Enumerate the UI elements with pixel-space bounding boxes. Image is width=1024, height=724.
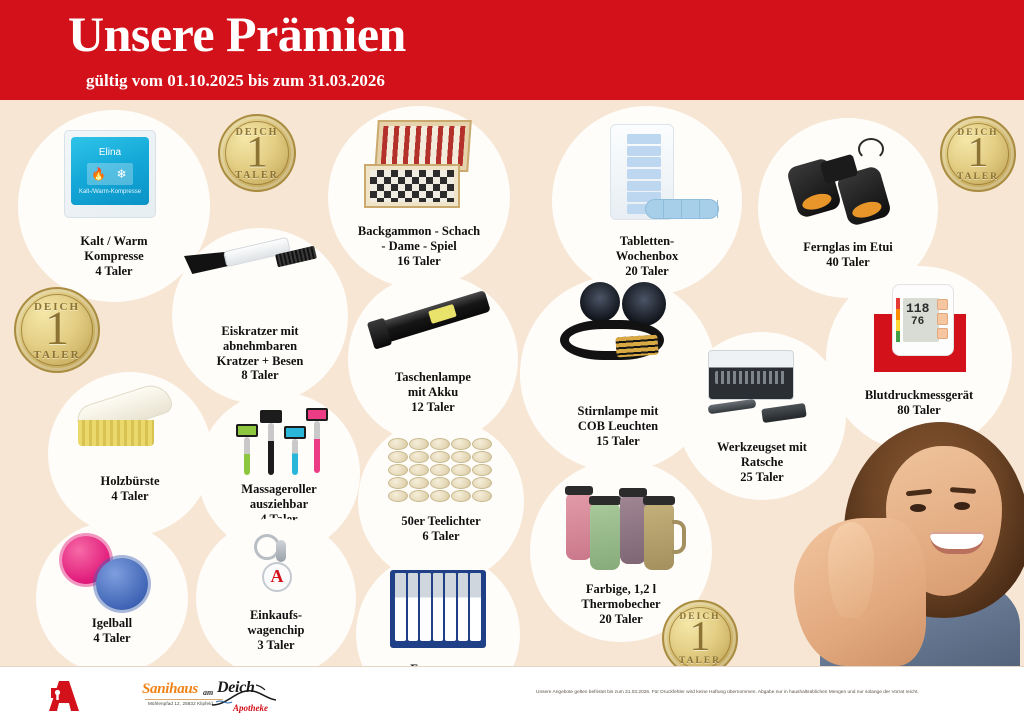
legal-fineprint: Unsere Angebote gelten befristet bis zum… xyxy=(536,689,1014,696)
product-bubble-holzbuerste[interactable]: Holzbürste 4 Taler xyxy=(48,372,212,536)
flame-icon: 🔥 xyxy=(87,163,110,185)
compress-brand-label: Elina xyxy=(71,147,149,158)
lighter xyxy=(470,573,481,641)
coin-value: 1 xyxy=(942,132,1014,174)
product-caption-backgammon: Backgammon - Schach - Dame - Spiel 16 Ta… xyxy=(320,224,518,268)
model-eye-left xyxy=(910,504,926,512)
headlamp-demo-photo-left xyxy=(580,282,620,322)
tealight xyxy=(472,438,492,450)
compress-gel: Elina 🔥 ❄ Kalt-/Warm-Kompresse xyxy=(71,137,149,205)
lighter-display-box xyxy=(390,570,486,648)
flashlight-cob-light xyxy=(428,304,457,324)
tealight xyxy=(451,464,471,476)
binocular-lens-left xyxy=(801,191,834,213)
tealight xyxy=(472,477,492,489)
tealight xyxy=(409,438,429,450)
tumbler-lid xyxy=(589,496,621,505)
cart-chip-token: A xyxy=(262,562,292,592)
coin-bottom-text: TALER xyxy=(664,656,736,666)
flashlight-head xyxy=(367,318,392,350)
flashlight-shape xyxy=(377,290,491,344)
toolcase-shape xyxy=(708,350,794,400)
tealight xyxy=(388,438,408,450)
lighter xyxy=(445,573,456,641)
product-image-einkaufswagenchip: A xyxy=(250,534,306,598)
product-bubble-backgammon[interactable]: Backgammon - Schach - Dame - Spiel 16 Ta… xyxy=(328,106,510,288)
spike-ball-blue xyxy=(96,558,148,610)
smiling-woman-thumbs-up-photo xyxy=(794,420,1024,666)
bp-button[interactable] xyxy=(937,313,948,324)
tealight xyxy=(430,451,450,463)
pillbox-daily-tray xyxy=(645,199,719,219)
apotheke-a-logo xyxy=(47,679,81,713)
pillbox-day xyxy=(627,157,661,167)
compress-pack-shape: Elina 🔥 ❄ Kalt-/Warm-Kompresse xyxy=(64,130,156,218)
snowflake-icon: ❄ xyxy=(110,163,133,185)
keyring-clip xyxy=(276,540,286,562)
product-caption-igelball: Igelball 4 Taler xyxy=(36,616,188,646)
pillbox-day xyxy=(627,181,661,191)
product-bubble-feuerzeug[interactable]: Feuerzeug 10 Taler xyxy=(356,552,520,666)
product-image-teelichter xyxy=(388,438,492,502)
tumbler-tan xyxy=(644,504,674,570)
poster-header: Unsere Prämien gültig vom 01.10.2025 bis… xyxy=(0,0,1024,100)
tealight-grid xyxy=(388,438,492,502)
tray-slot xyxy=(700,200,718,218)
tealight xyxy=(409,477,429,489)
bp-button[interactable] xyxy=(937,328,948,339)
bp-systolic-value: 118 xyxy=(906,301,929,316)
products-stage: DEICH 1 TALER DEICH 1 TALER DEICH 1 TALE… xyxy=(0,100,1024,666)
tealight xyxy=(388,490,408,502)
tealight xyxy=(472,464,492,476)
pillbox-day xyxy=(627,134,661,144)
product-bubble-igelball[interactable]: Igelball 4 Taler xyxy=(36,522,188,666)
logo-address: Mühlenpfad 12, 25832 Klipfeld xyxy=(148,701,213,706)
bp-brand-label xyxy=(893,290,953,296)
tealight xyxy=(451,451,471,463)
product-bubble-einkaufswagenchip[interactable]: A Einkaufs- wagenchip 3 Taler xyxy=(196,518,356,666)
headlamp-band-shape xyxy=(560,320,664,360)
tealight xyxy=(451,490,471,502)
product-image-feuerzeug xyxy=(390,570,486,648)
tealight xyxy=(409,451,429,463)
tealight xyxy=(451,438,471,450)
bp-risk-indicator xyxy=(896,298,900,342)
product-caption-eiskratzer: Eiskratzer mit abnehmbaren Kratzer + Bes… xyxy=(172,324,348,383)
coin-value: 1 xyxy=(220,130,294,174)
pillbox-day xyxy=(627,169,661,179)
checker-pattern xyxy=(370,170,454,202)
product-caption-tabletten-wochenbox: Tabletten- Wochenbox 20 Taler xyxy=(552,234,742,278)
roller-handle xyxy=(268,423,274,475)
roller-head xyxy=(284,426,306,439)
tealight xyxy=(451,477,471,489)
lighter xyxy=(395,573,406,641)
product-image-backgammon xyxy=(364,120,476,210)
product-image-werkzeugset xyxy=(708,350,818,428)
bp-button-group[interactable] xyxy=(937,299,948,339)
tealight xyxy=(472,451,492,463)
binocular-lens-right xyxy=(851,199,884,221)
product-image-taschenlampe xyxy=(378,306,490,328)
tumbler-lid xyxy=(643,496,675,505)
lighter-row xyxy=(395,573,481,641)
product-image-igelball xyxy=(62,536,162,612)
lighter xyxy=(458,573,469,641)
tealight xyxy=(409,464,429,476)
product-image-blutdruckmessgeraet: 118 76 xyxy=(874,314,966,372)
apotheke-a-icon xyxy=(47,679,81,713)
logo-word-sanihaus: Sanihaus xyxy=(142,681,198,698)
tealight xyxy=(430,464,450,476)
product-bubble-tabletten-wochenbox[interactable]: Tabletten- Wochenbox 20 Taler xyxy=(552,106,742,296)
logo-dike-landscape-icon xyxy=(212,683,276,709)
model-eyebrow-right xyxy=(950,487,976,494)
tealight xyxy=(430,490,450,502)
tealight xyxy=(388,477,408,489)
product-caption-taschenlampe: Taschenlampe mit Akku 12 Taler xyxy=(348,370,518,414)
toolcase-bits xyxy=(715,371,787,384)
product-bubble-kalt-warm-kompresse[interactable]: Elina 🔥 ❄ Kalt-/Warm-Kompresse Kalt / Wa… xyxy=(18,110,210,302)
model-eyebrow-left xyxy=(906,489,932,497)
coin-bottom-text: TALER xyxy=(220,170,294,181)
product-caption-teelichter: 50er Teelichter 6 Taler xyxy=(358,514,524,544)
bp-red-backdrop: 118 76 xyxy=(874,314,966,372)
thumbs-up-icon xyxy=(828,522,874,618)
roller-handle xyxy=(314,421,320,473)
tumbler-handle xyxy=(672,520,686,554)
lighter xyxy=(433,573,444,641)
lighter xyxy=(408,573,419,641)
screwdriver-shape xyxy=(708,399,757,415)
backgammon-points xyxy=(381,126,466,166)
tealight xyxy=(472,490,492,502)
deich-taler-coin: DEICH 1 TALER xyxy=(940,116,1016,192)
product-caption-holzbuerste: Holzbürste 4 Taler xyxy=(48,474,212,504)
tealight xyxy=(409,490,429,502)
pillbox-day xyxy=(627,146,661,156)
tumbler-lid xyxy=(619,488,647,497)
compress-pack-text: Kalt-/Warm-Kompresse xyxy=(71,189,149,195)
tealight xyxy=(388,451,408,463)
product-caption-blutdruckmessgeraet: Blutdruckmessgerät 80 Taler xyxy=(820,388,1018,418)
deich-taler-coin: DEICH 1 TALER xyxy=(14,287,100,373)
compress-icon-row: 🔥 ❄ xyxy=(87,163,133,185)
lighter xyxy=(420,573,431,641)
bp-pulse-row xyxy=(908,331,912,338)
deich-taler-coin: DEICH 1 TALER xyxy=(218,114,296,192)
brush-bristles-shape xyxy=(78,420,154,446)
product-caption-einkaufswagenchip: Einkaufs- wagenchip 3 Taler xyxy=(196,608,356,652)
roller-head xyxy=(236,424,258,437)
poster-root: Unsere Prämien gültig vom 01.10.2025 bis… xyxy=(0,0,1024,724)
coin-value: 1 xyxy=(16,305,98,353)
tumbler-mauve xyxy=(620,496,646,564)
roller-handle xyxy=(292,439,298,475)
product-image-stirnlampe xyxy=(544,282,694,394)
tealight xyxy=(388,464,408,476)
binocular-strap xyxy=(858,138,884,160)
bp-button[interactable] xyxy=(937,299,948,310)
model-arm xyxy=(794,518,926,666)
roller-head xyxy=(260,410,282,423)
coin-bottom-text: TALER xyxy=(16,349,98,361)
chess-board xyxy=(364,164,460,208)
pillbox-shape xyxy=(610,124,674,220)
poster-footer: Sanihaus am Deich Mühlenpfad 12, 25832 K… xyxy=(0,666,1024,724)
product-caption-fernglas: Fernglas im Etui 40 Taler xyxy=(758,240,938,270)
product-image-tabletten-wochenbox xyxy=(610,124,674,220)
tray-slot xyxy=(646,200,664,218)
roller-head xyxy=(306,408,328,421)
bp-display-screen: 118 76 xyxy=(903,298,939,342)
boardgame-case-shape xyxy=(364,120,476,210)
tray-slot xyxy=(682,200,700,218)
tumbler-lid xyxy=(565,486,593,495)
product-image-thermobecher xyxy=(564,482,682,574)
product-image-holzbuerste xyxy=(76,394,172,426)
product-image-fernglas xyxy=(788,136,908,218)
tealight xyxy=(430,477,450,489)
product-image-kalt-warm-kompresse: Elina 🔥 ❄ Kalt-/Warm-Kompresse xyxy=(64,130,156,218)
coin-value: 1 xyxy=(664,616,736,658)
deich-taler-coin: DEICH 1 TALER xyxy=(662,600,738,666)
coin-bottom-text: TALER xyxy=(942,172,1014,182)
tumbler-pink xyxy=(566,494,592,560)
headlamp-cob-lights xyxy=(615,335,658,358)
roller-handle xyxy=(244,437,250,475)
page-title: Unsere Prämien xyxy=(68,7,406,61)
apotheke-a-glyph xyxy=(47,679,81,713)
pharmacy-a-icon: A xyxy=(264,567,290,585)
tealight xyxy=(430,438,450,450)
product-caption-kalt-warm-kompresse: Kalt / Warm Kompresse 4 Taler xyxy=(18,234,210,278)
product-image-massageroller xyxy=(234,406,330,482)
bp-device-shape: 118 76 xyxy=(892,284,954,356)
tray-slot xyxy=(664,200,682,218)
tumbler-green xyxy=(590,504,620,570)
model-eye-right xyxy=(954,502,970,510)
product-image-eiskratzer xyxy=(184,252,230,274)
bp-diastolic-value: 76 xyxy=(911,316,924,328)
pharmacy-logo: Sanihaus am Deich Mühlenpfad 12, 25832 K… xyxy=(140,677,275,717)
validity-period: gültig vom 01.10.2025 bis zum 31.03.2026 xyxy=(86,71,385,91)
